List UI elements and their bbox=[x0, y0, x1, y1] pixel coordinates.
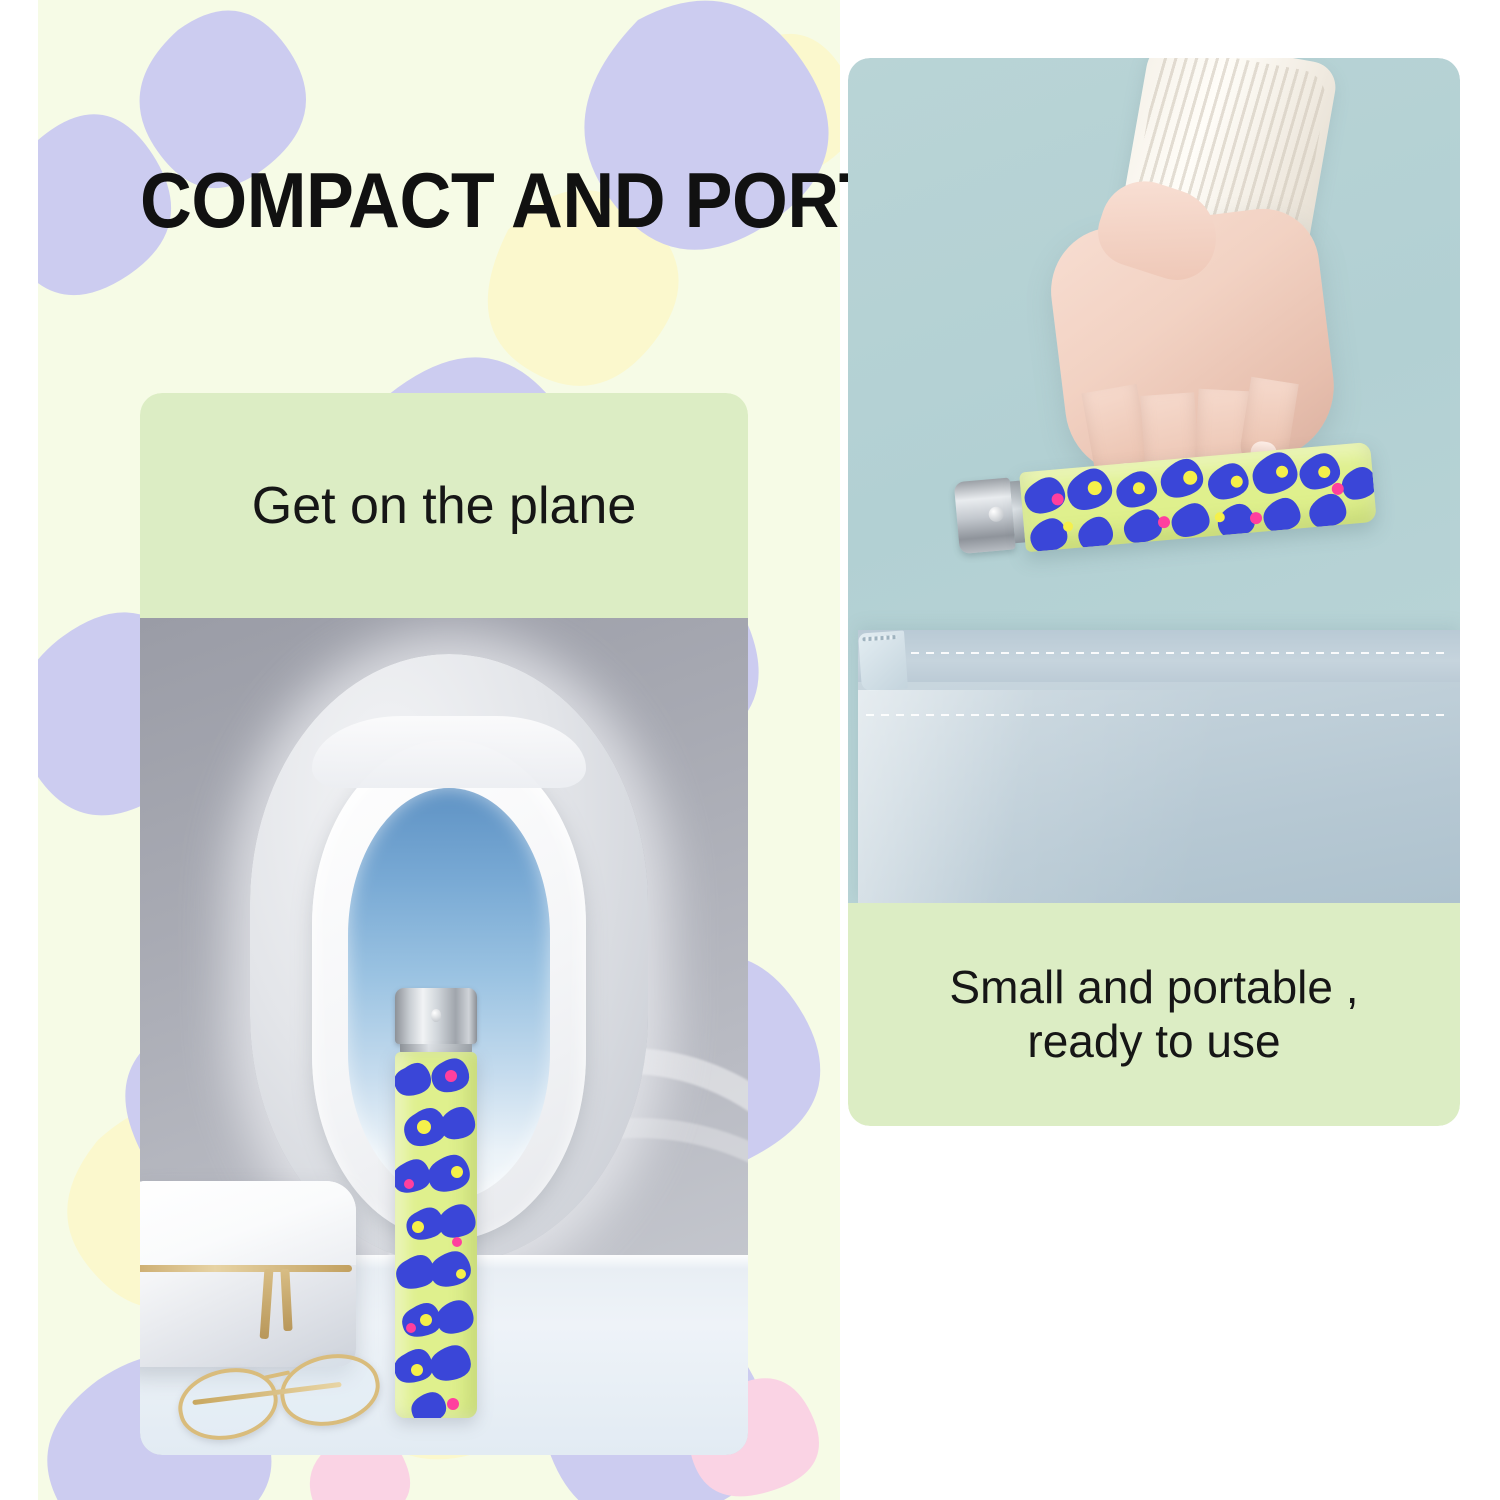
right-card-caption-panel: Small and portable , ready to use bbox=[848, 903, 1460, 1126]
product-atomizer-held bbox=[953, 438, 1377, 560]
product-atomizer-standing bbox=[395, 988, 477, 1418]
pouch-zipper bbox=[858, 630, 908, 691]
atomizer-body bbox=[395, 1052, 477, 1418]
left-card-caption-panel: Get on the plane bbox=[140, 393, 748, 618]
airplane-window-shade bbox=[312, 716, 586, 788]
left-card-caption-text: Get on the plane bbox=[252, 476, 637, 536]
eyeglasses-lens-left bbox=[172, 1359, 284, 1448]
card-get-on-the-plane: Get on the plane bbox=[140, 393, 748, 1455]
right-card-caption-text: Small and portable , ready to use bbox=[949, 961, 1358, 1068]
card-small-and-portable: Small and portable , ready to use bbox=[848, 58, 1460, 1126]
pouch-seam-top bbox=[866, 652, 1444, 654]
atomizer-cap bbox=[954, 477, 1016, 554]
bag-zipper-pull-2 bbox=[280, 1269, 292, 1331]
pouch-flap bbox=[858, 630, 1460, 682]
fabric-pouch bbox=[858, 630, 1460, 903]
bag-zipper-pull-1 bbox=[260, 1269, 274, 1339]
right-card-caption-line-2: ready to use bbox=[949, 1015, 1358, 1068]
atomizer-pump-button bbox=[988, 506, 1004, 522]
atomizer-body bbox=[1019, 442, 1377, 552]
left-card-photo bbox=[140, 618, 748, 1455]
pouch-fabric-sheen bbox=[858, 690, 1460, 903]
eyeglasses bbox=[176, 1345, 416, 1437]
white-cosmetic-bag bbox=[140, 1181, 356, 1367]
bag-zipper bbox=[140, 1265, 352, 1272]
right-card-caption-line-1: Small and portable , bbox=[949, 961, 1358, 1014]
right-card-photo bbox=[848, 58, 1460, 903]
bag-lid bbox=[140, 1181, 356, 1265]
infographic-stage: COMPACT AND PORTABLE Get on the plane bbox=[0, 0, 1500, 1500]
atomizer-cap bbox=[395, 988, 477, 1044]
